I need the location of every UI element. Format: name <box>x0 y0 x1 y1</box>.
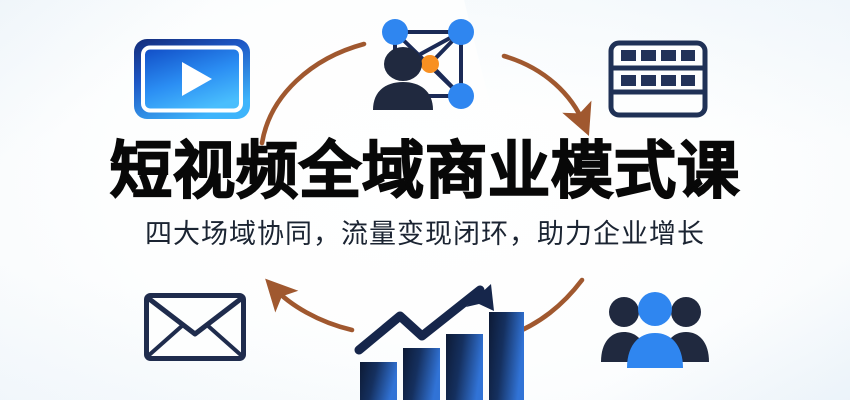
arrow-video-to-network <box>262 44 364 143</box>
user-group-icon[interactable] <box>600 288 710 368</box>
page-title: 短视频全域商业模式课 <box>0 136 850 208</box>
arrow-chart-to-mail <box>274 288 352 330</box>
chart-bar <box>446 334 483 400</box>
growth-bar-chart-icon[interactable] <box>352 284 524 400</box>
envelope-icon[interactable] <box>143 292 247 362</box>
network-nodes-icon[interactable] <box>364 6 482 116</box>
chart-bar <box>403 348 440 400</box>
chart-bar <box>360 362 397 400</box>
video-play-icon[interactable] <box>133 38 251 120</box>
arrow-network-to-server <box>504 56 584 124</box>
promo-banner: 短视频全域商业模式课 四大场域协同，流量变现闭环，助力企业增长 <box>0 0 850 400</box>
server-rack-icon[interactable] <box>608 40 708 118</box>
chart-bar <box>489 312 524 400</box>
page-subtitle: 四大场域协同，流量变现闭环，助力企业增长 <box>0 214 850 254</box>
headline-block: 短视频全域商业模式课 四大场域协同，流量变现闭环，助力企业增长 <box>0 136 850 254</box>
